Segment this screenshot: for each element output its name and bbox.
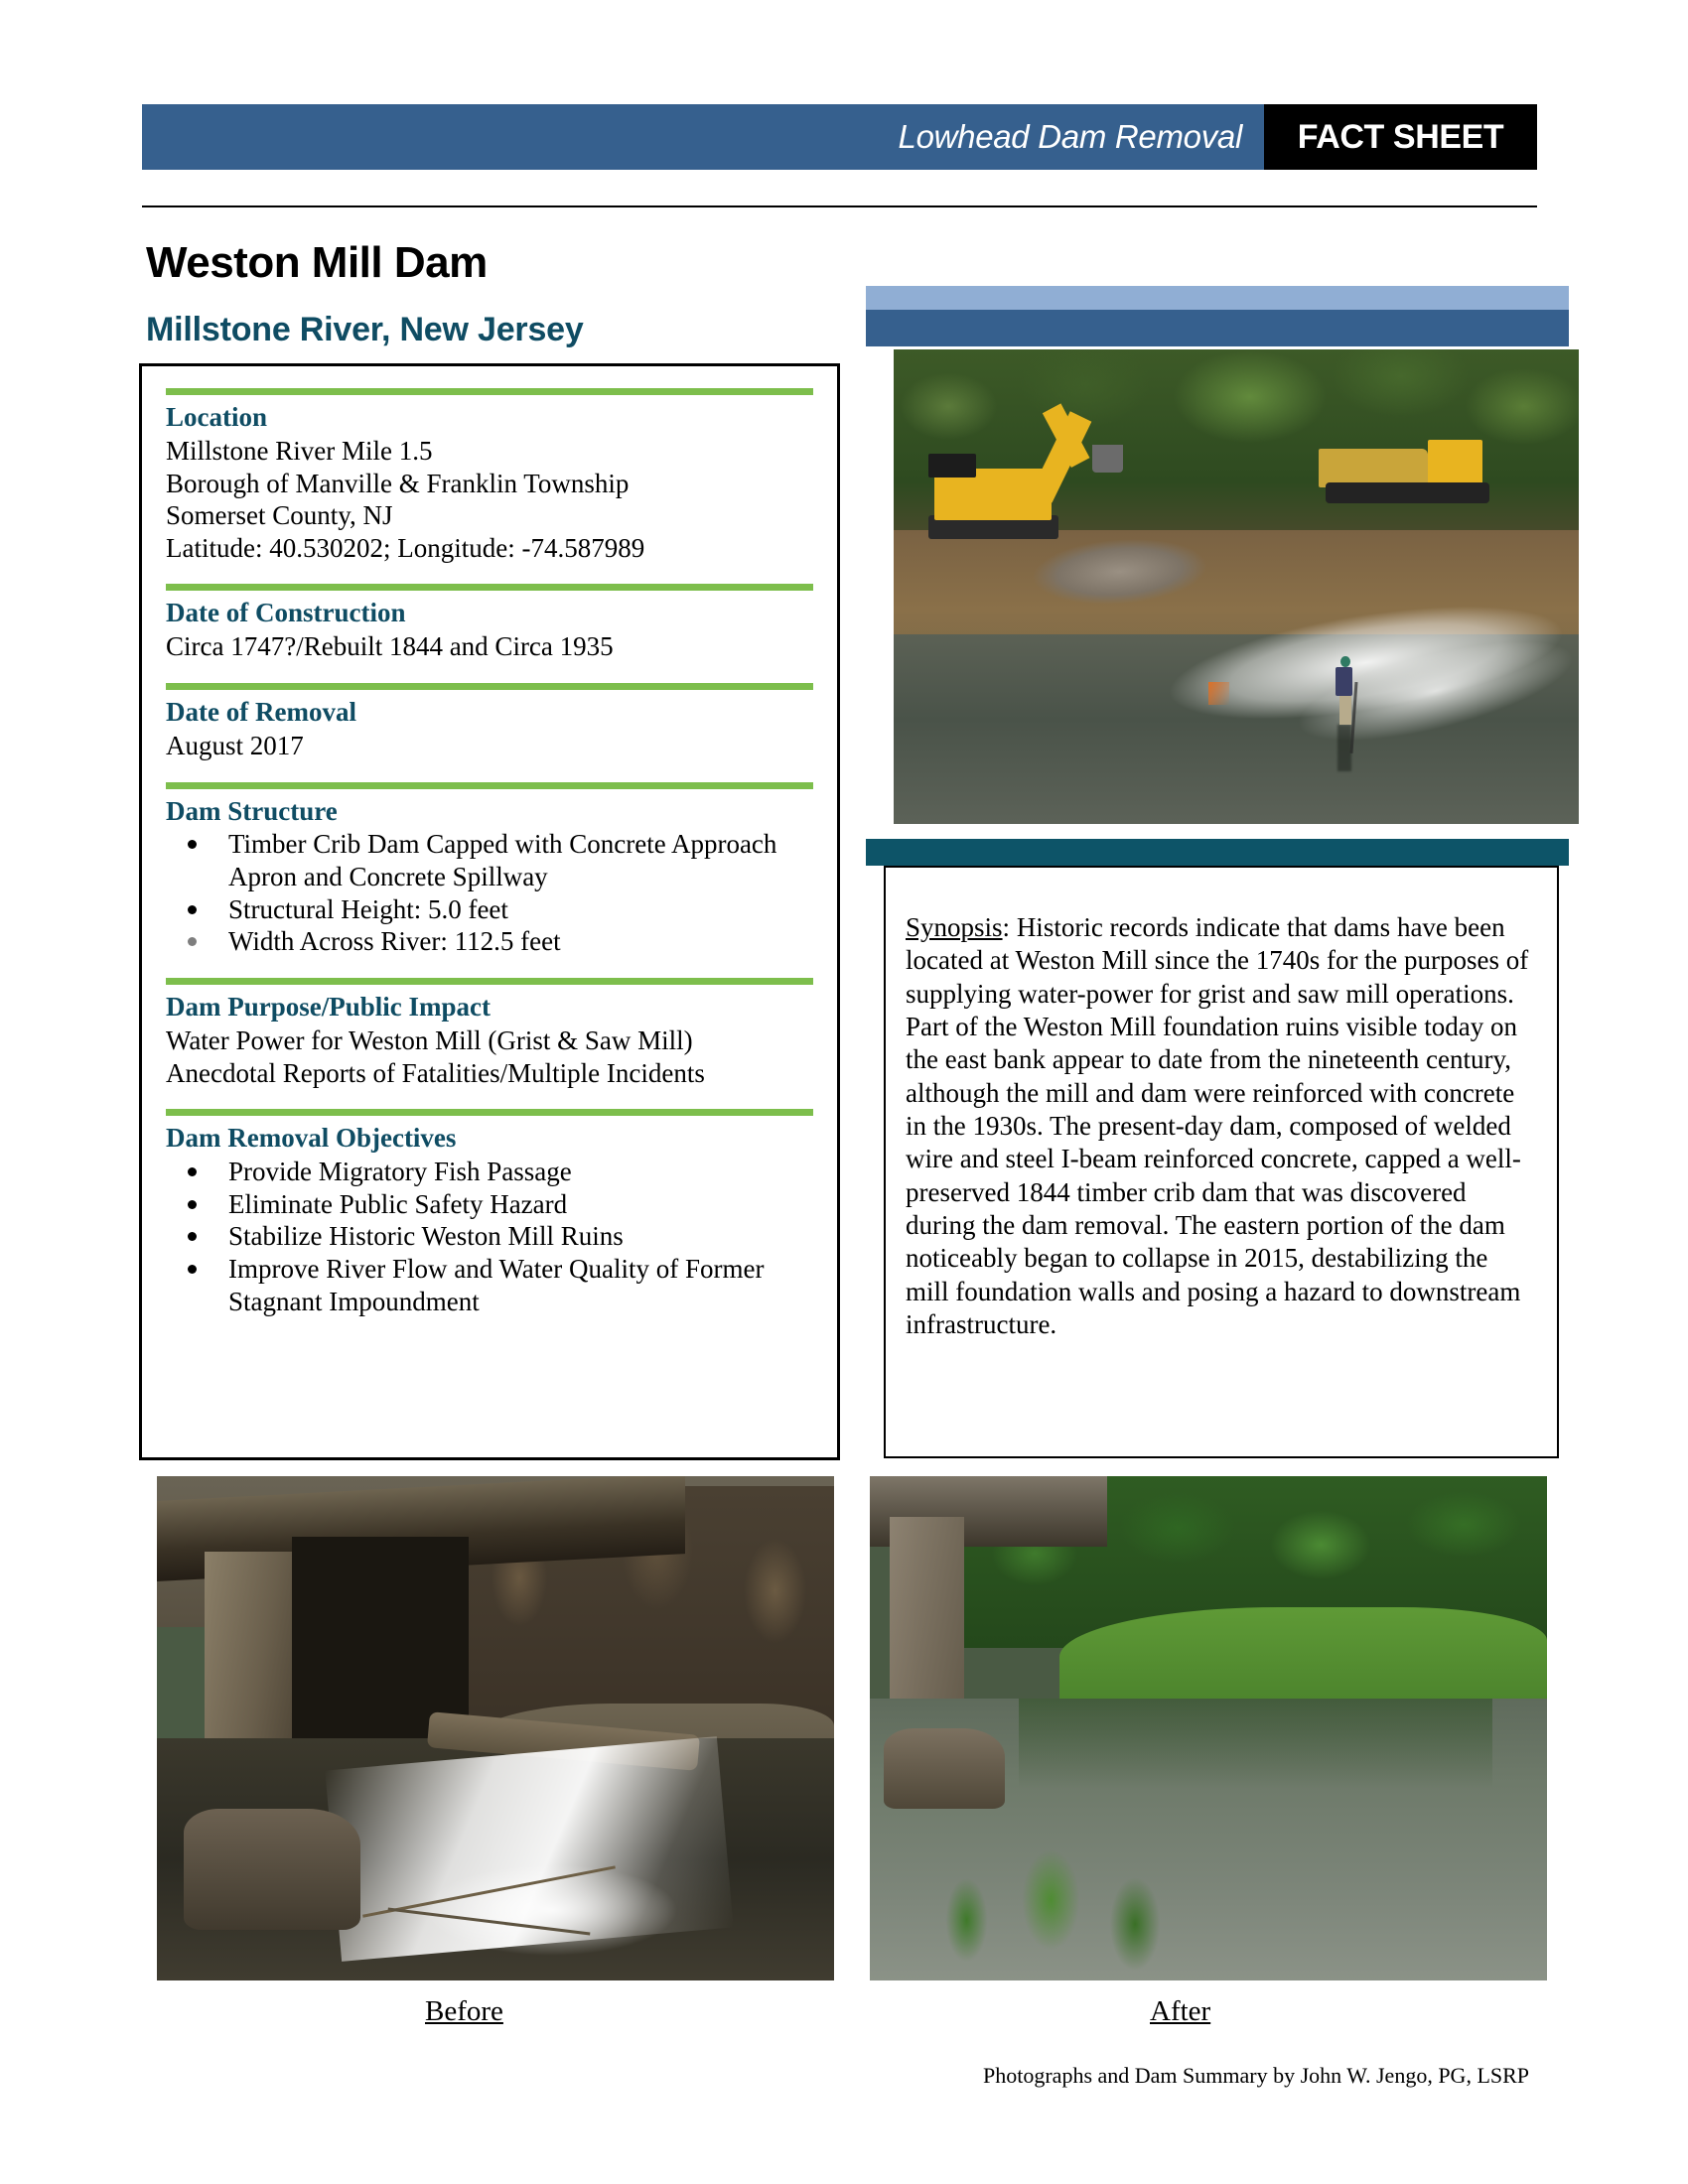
light-blue-accent-bar — [866, 286, 1569, 310]
list-item: Stabilize Historic Weston Mill Ruins — [166, 1220, 813, 1253]
header-banner: Lowhead Dam Removal FACT SHEET — [142, 104, 1537, 170]
section-rule — [166, 683, 813, 690]
photo-dump-truck-bed — [1319, 449, 1428, 486]
photo-tree-reflection — [1019, 1699, 1492, 1789]
bullet-dot-icon — [188, 1232, 197, 1241]
synopsis-box: Synopsis: Historic records indicate that… — [884, 866, 1559, 1458]
photo-before-removal — [157, 1476, 834, 1980]
bullet-dot-icon — [188, 937, 197, 946]
list-item-label: Improve River Flow and Water Quality of … — [228, 1254, 764, 1316]
list-item-label: Width Across River: 112.5 feet — [228, 926, 561, 956]
caption-before: Before — [425, 1995, 503, 2028]
section-heading-dam-removal-objectives: Dam Removal Objectives — [166, 1123, 813, 1155]
list-item: Structural Height: 5.0 feet — [166, 893, 813, 926]
bullet-dot-icon — [188, 905, 197, 914]
photo-excavator-cab — [928, 454, 976, 478]
photo-survey-flag — [1208, 682, 1229, 706]
list-item: Eliminate Public Safety Hazard — [166, 1188, 813, 1221]
date-of-removal-value: August 2017 — [166, 730, 813, 762]
header-banner-label: Lowhead Dam Removal — [899, 118, 1264, 156]
info-section-location: Location Millstone River Mile 1.5 Boroug… — [166, 388, 813, 564]
page-subtitle: Millstone River, New Jersey — [146, 311, 584, 349]
photo-worker-waders — [1339, 696, 1351, 725]
section-rule — [166, 1109, 813, 1116]
section-rule — [166, 782, 813, 789]
list-item: Timber Crib Dam Capped with Concrete App… — [166, 828, 813, 892]
photo-worker-torso — [1336, 667, 1352, 696]
fact-sheet-page: Lowhead Dam Removal FACT SHEET Weston Mi… — [0, 0, 1688, 2184]
bullet-dot-icon — [188, 1265, 197, 1274]
synopsis-label: Synopsis — [906, 912, 1003, 942]
dam-removal-objectives-bullet-list: Provide Migratory Fish Passage Eliminate… — [166, 1156, 813, 1317]
dam-purpose-line-fatalities: Anecdotal Reports of Fatalities/Multiple… — [166, 1057, 813, 1090]
location-line-river-mile: Millstone River Mile 1.5 — [166, 435, 813, 468]
photo-dump-truck-cab — [1428, 440, 1482, 487]
photo-credit-line: Photographs and Dam Summary by John W. J… — [983, 2063, 1529, 2089]
synopsis-paragraph: Synopsis: Historic records indicate that… — [906, 911, 1537, 1341]
caption-after: After — [1150, 1995, 1210, 2028]
section-heading-date-of-construction: Date of Construction — [166, 598, 813, 629]
page-title: Weston Mill Dam — [146, 238, 488, 288]
list-item: Provide Migratory Fish Passage — [166, 1156, 813, 1188]
photo-foreground-rock — [184, 1809, 359, 1930]
info-section-dam-purpose-public-impact: Dam Purpose/Public Impact Water Power fo… — [166, 978, 813, 1089]
section-rule — [166, 388, 813, 395]
spacer — [166, 1093, 813, 1109]
info-section-dam-removal-objectives: Dam Removal Objectives Provide Migratory… — [166, 1109, 813, 1317]
photo-dump-truck-wheels — [1326, 482, 1490, 504]
header-divider-rule — [142, 205, 1537, 207]
section-rule — [166, 978, 813, 985]
location-line-coordinates: Latitude: 40.530202; Longitude: -74.5879… — [166, 532, 813, 565]
location-line-municipality: Borough of Manville & Franklin Township — [166, 468, 813, 500]
date-of-construction-value: Circa 1747?/Rebuilt 1844 and Circa 1935 — [166, 630, 813, 663]
header-banner-black: FACT SHEET — [1264, 104, 1537, 170]
list-item: Improve River Flow and Water Quality of … — [166, 1253, 813, 1317]
location-line-county: Somerset County, NJ — [166, 499, 813, 532]
spacer — [166, 568, 813, 584]
bullet-dot-icon — [188, 1167, 197, 1176]
photo-emergent-reeds — [911, 1779, 1222, 1980]
photo-plunge-pool-foam — [414, 1849, 719, 1971]
section-rule — [166, 584, 813, 591]
synopsis-separator: : — [1003, 912, 1017, 942]
section-heading-location: Location — [166, 402, 813, 434]
section-heading-dam-structure: Dam Structure — [166, 796, 813, 828]
spacer — [166, 766, 813, 782]
bullet-dot-icon — [188, 1200, 197, 1209]
blue-accent-bar — [866, 310, 1569, 346]
dam-purpose-line-water-power: Water Power for Weston Mill (Grist & Saw… — [166, 1024, 813, 1057]
list-item-label: Timber Crib Dam Capped with Concrete App… — [228, 829, 776, 891]
teal-accent-bar — [866, 839, 1569, 866]
dam-structure-bullet-list: Timber Crib Dam Capped with Concrete App… — [166, 828, 813, 958]
list-item-label: Structural Height: 5.0 feet — [228, 894, 508, 924]
section-heading-dam-purpose: Dam Purpose/Public Impact — [166, 992, 813, 1024]
list-item: Width Across River: 112.5 feet — [166, 925, 813, 958]
info-section-date-of-construction: Date of Construction Circa 1747?/Rebuilt… — [166, 584, 813, 663]
fact-sheet-label: FACT SHEET — [1298, 118, 1504, 157]
info-section-date-of-removal: Date of Removal August 2017 — [166, 683, 813, 762]
photo-excavator-bucket — [1092, 445, 1123, 474]
info-section-dam-structure: Dam Structure Timber Crib Dam Capped wit… — [166, 782, 813, 958]
photo-dam-removal-operation — [894, 349, 1579, 824]
list-item-label: Eliminate Public Safety Hazard — [228, 1189, 567, 1219]
dam-info-box: Location Millstone River Mile 1.5 Boroug… — [139, 363, 840, 1460]
spacer — [166, 962, 813, 978]
bullet-dot-icon — [188, 840, 197, 849]
list-item-label: Provide Migratory Fish Passage — [228, 1157, 572, 1186]
list-item-label: Stabilize Historic Weston Mill Ruins — [228, 1221, 624, 1251]
synopsis-body: Historic records indicate that dams have… — [906, 912, 1528, 1339]
spacer — [166, 667, 813, 683]
header-banner-blue: Lowhead Dam Removal — [142, 104, 1264, 170]
section-heading-date-of-removal: Date of Removal — [166, 697, 813, 729]
photo-after-removal — [870, 1476, 1547, 1980]
